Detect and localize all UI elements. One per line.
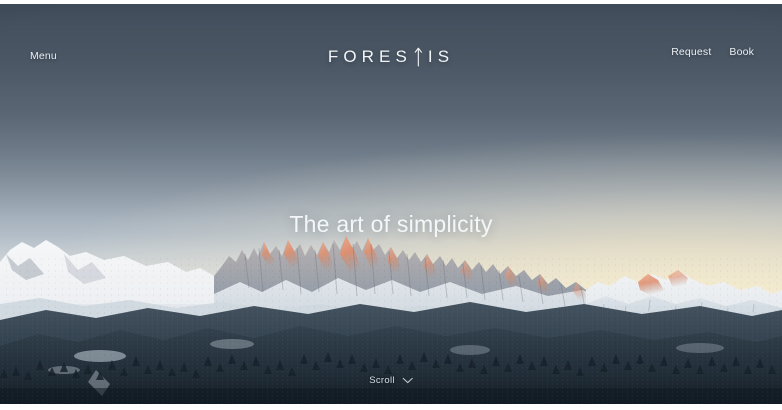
book-button[interactable]: Book [729,46,754,58]
browser-chrome-bottom [0,404,782,410]
snow-clearing-1 [74,350,126,362]
hero-section: Menu FORES IS Request Book The art of si… [0,4,782,404]
hero-headline: The art of simplicity [0,211,782,238]
logo-text-before: FORES [328,47,412,67]
scroll-label: Scroll [369,375,395,386]
site-logo[interactable]: FORES IS [328,41,454,67]
browser-viewport: Menu FORES IS Request Book The art of si… [0,0,782,410]
nav-left: Menu [30,46,57,64]
snow-clearing-5 [676,343,724,353]
snow-clearing-3 [210,339,254,349]
browser-chrome-top [0,0,782,4]
snow-clearing-4 [450,345,490,355]
scroll-indicator[interactable]: Scroll [369,375,413,386]
nav-right: Request Book [671,46,754,58]
menu-button[interactable]: Menu [30,50,57,62]
chevron-down-icon [402,377,413,384]
tree-spire-icon [412,47,425,67]
site-header: Menu FORES IS Request Book [0,4,782,96]
request-button[interactable]: Request [671,46,711,58]
logo-text-after: IS [428,47,454,67]
foreground-shadow [0,388,782,404]
